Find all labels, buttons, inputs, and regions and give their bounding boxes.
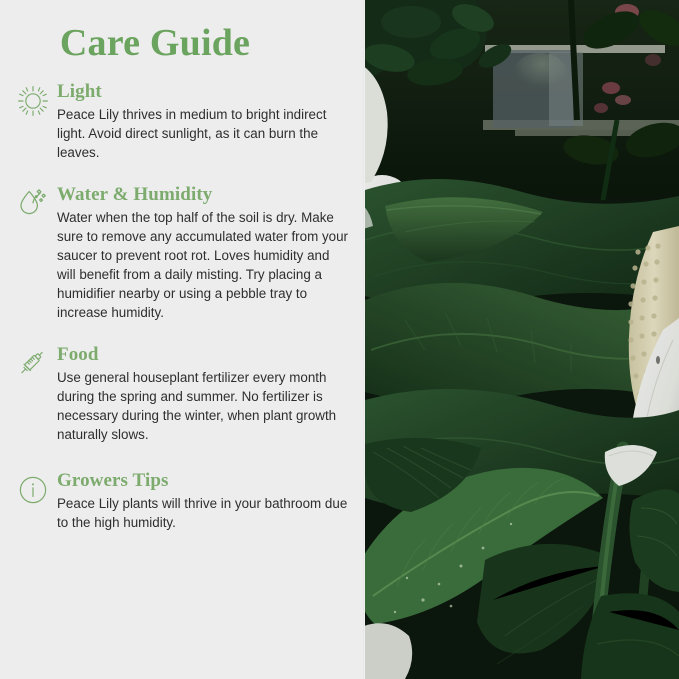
peace-lily-plant-photo xyxy=(365,0,679,679)
page-title: Care Guide xyxy=(0,0,365,62)
care-sections-list: Light Peace Lily thrives in medium to br… xyxy=(0,81,365,532)
syringe-icon xyxy=(13,344,51,382)
care-guide-panel: Care Guide xyxy=(0,0,365,679)
water-droplet-humidity-icon xyxy=(15,184,51,220)
care-section-heading: Growers Tips xyxy=(57,470,351,492)
care-section-body: Use general houseplant fertilizer every … xyxy=(57,368,351,444)
photo-illustration xyxy=(365,0,679,679)
care-section-body: Peace Lily plants will thrive in your ba… xyxy=(57,494,351,532)
care-section-heading: Food xyxy=(57,344,351,366)
care-section-light: Light Peace Lily thrives in medium to br… xyxy=(0,81,365,162)
sun-icon xyxy=(15,83,51,119)
care-section-food: Food Use general houseplant fertilizer e… xyxy=(0,344,365,444)
care-section-heading: Light xyxy=(57,81,351,103)
panel-divider xyxy=(363,0,365,679)
info-circle-icon xyxy=(15,472,51,508)
care-section-growers-tips: Growers Tips Peace Lily plants will thri… xyxy=(0,470,365,532)
care-section-heading: Water & Humidity xyxy=(57,184,351,206)
care-section-body: Water when the top half of the soil is d… xyxy=(57,208,351,322)
care-section-water-humidity: Water & Humidity Water when the top half… xyxy=(0,184,365,322)
care-section-body: Peace Lily thrives in medium to bright i… xyxy=(57,105,351,162)
care-guide-page: Care Guide xyxy=(0,0,679,679)
